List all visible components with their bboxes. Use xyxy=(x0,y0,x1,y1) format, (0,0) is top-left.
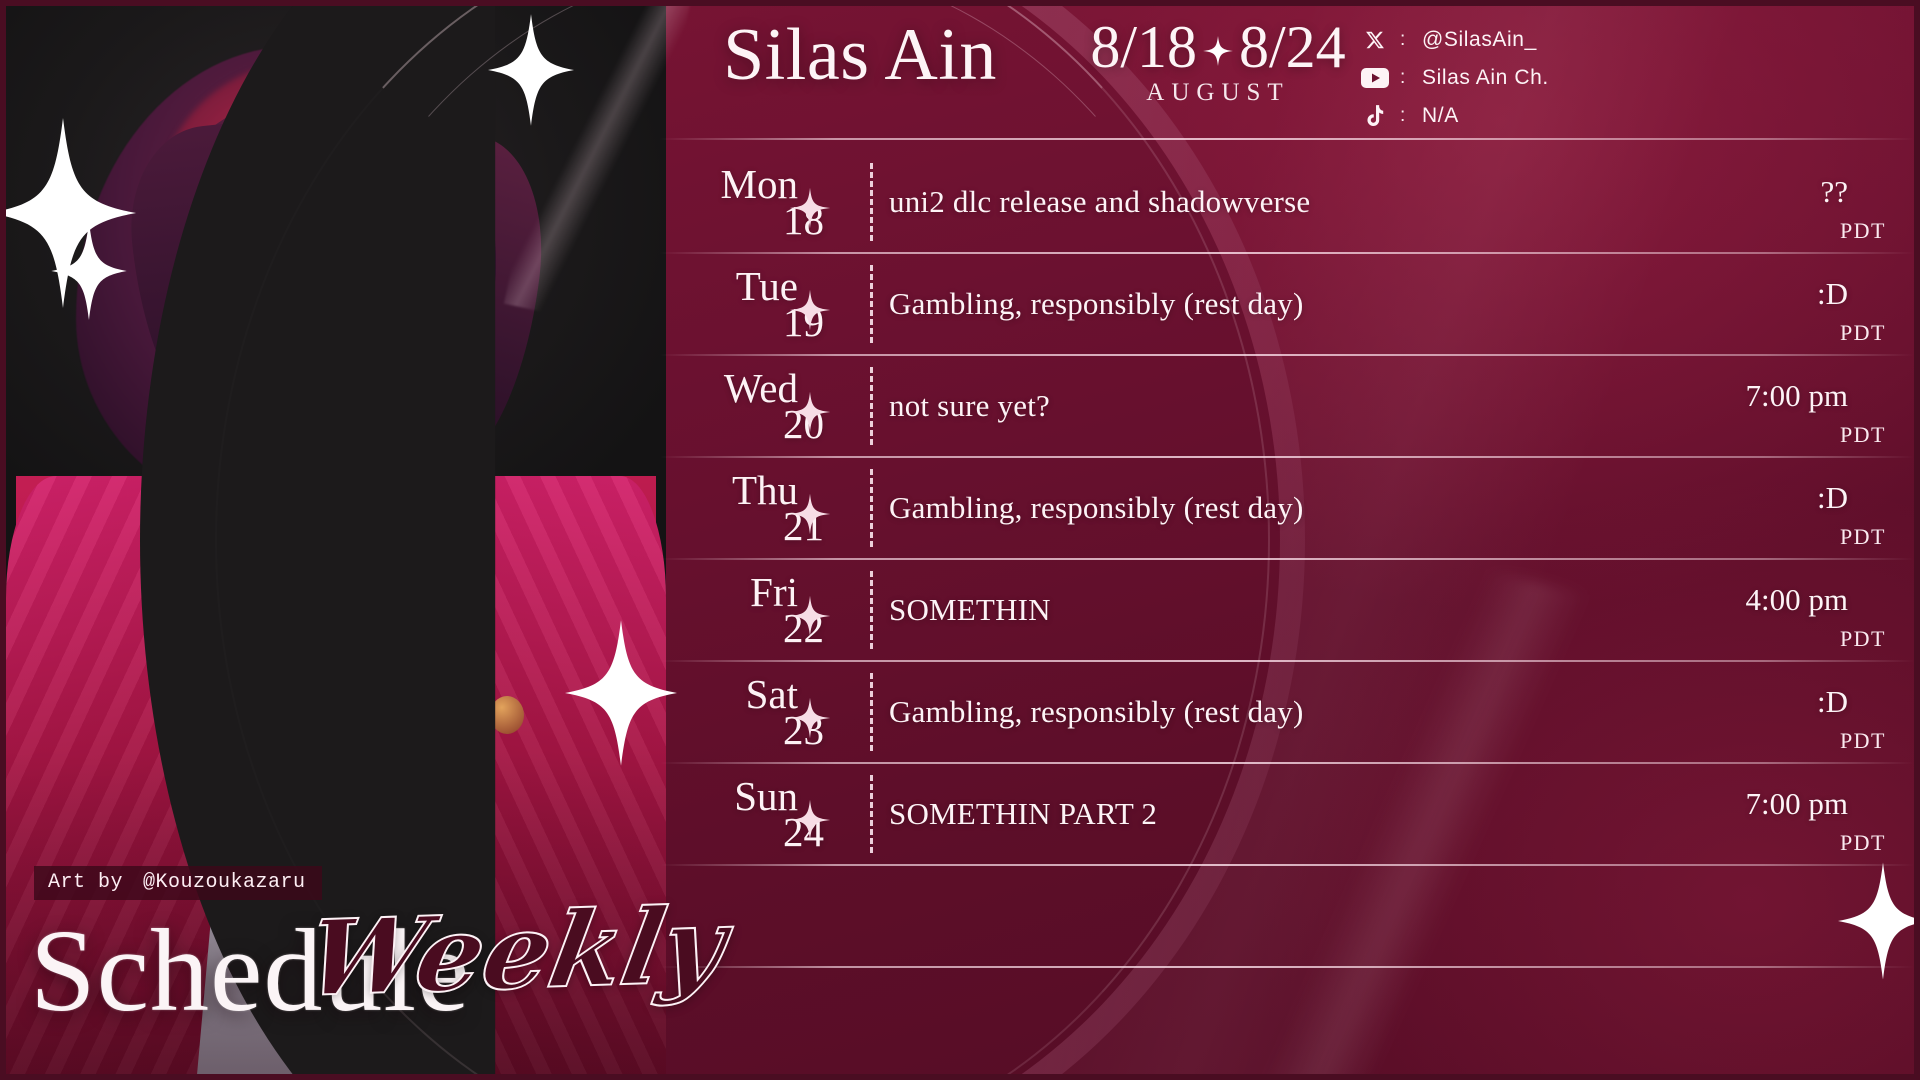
stream-time: :D xyxy=(1817,684,1848,720)
stream-title: uni2 dlc release and shadowverse xyxy=(889,184,1624,220)
date-start: 8/18 xyxy=(1090,16,1197,79)
day-cell: Sun 24 xyxy=(660,764,870,864)
stream-title: not sure yet? xyxy=(889,388,1624,424)
timezone-label: PDT xyxy=(1840,218,1886,244)
table-row[interactable]: Mon 18 uni2 dlc release and shadowverse … xyxy=(660,152,1914,252)
timezone-label: PDT xyxy=(1840,422,1886,448)
table-row[interactable]: Sun 24 SOMETHIN PART 2 7:00 pm PDT xyxy=(660,764,1914,864)
stream-title: Gambling, responsibly (rest day) xyxy=(889,286,1624,322)
row-dashed-divider xyxy=(870,265,873,343)
x-twitter-icon xyxy=(1360,29,1390,51)
weekly-wordmark: Weekly xyxy=(299,893,733,1011)
timezone-label: PDT xyxy=(1840,524,1886,550)
time-cell: 4:00 pm PDT xyxy=(1624,560,1914,660)
sparkle-icon xyxy=(788,390,832,434)
row-dashed-divider xyxy=(870,571,873,649)
timezone-label: PDT xyxy=(1840,728,1886,754)
table-row[interactable]: Thu 21 Gambling, responsibly (rest day) … xyxy=(660,458,1914,558)
row-dashed-divider xyxy=(870,367,873,445)
date-end: 8/24 xyxy=(1239,16,1346,79)
day-cell: Mon 18 xyxy=(660,152,870,252)
sparkle-icon xyxy=(788,186,832,230)
sparkle-icon xyxy=(788,696,832,740)
time-cell: 7:00 pm PDT xyxy=(1624,764,1914,864)
time-cell: 7:00 pm PDT xyxy=(1624,356,1914,456)
month-label: AUGUST xyxy=(1078,79,1358,107)
timezone-label: PDT xyxy=(1840,320,1886,346)
sparkle-icon xyxy=(1201,28,1235,68)
social-separator: : xyxy=(1400,67,1412,89)
row-dashed-divider xyxy=(870,469,873,547)
youtube-icon xyxy=(1360,68,1390,88)
sparkle-icon xyxy=(788,288,832,332)
social-separator: : xyxy=(1400,29,1412,51)
stream-time: :D xyxy=(1817,276,1848,312)
sparkle-icon xyxy=(788,798,832,842)
date-range: 8/18 8/24 xyxy=(1078,16,1358,79)
page-title: Silas Ain xyxy=(660,18,1060,92)
social-handle-tiktok: N/A xyxy=(1422,104,1459,128)
time-cell: :D PDT xyxy=(1624,254,1914,354)
sparkle-icon xyxy=(788,594,832,638)
social-handle-x: @SilasAin_ xyxy=(1422,28,1537,52)
social-separator: : xyxy=(1400,105,1412,127)
header: Silas Ain 8/18 8/24 AUGUST xyxy=(660,12,1914,134)
time-cell: :D PDT xyxy=(1624,662,1914,762)
social-row-x[interactable]: : @SilasAin_ xyxy=(1360,26,1900,54)
day-cell: Thu 21 xyxy=(660,458,870,558)
table-row[interactable]: Wed 20 not sure yet? 7:00 pm PDT xyxy=(660,356,1914,456)
time-cell: :D PDT xyxy=(1624,458,1914,558)
social-row-youtube[interactable]: : Silas Ain Ch. xyxy=(1360,64,1900,92)
social-links: : @SilasAin_ : Silas Ain Ch. xyxy=(1360,26,1900,130)
table-row[interactable]: Sat 23 Gambling, responsibly (rest day) … xyxy=(660,662,1914,762)
stream-title: SOMETHIN xyxy=(889,592,1624,628)
artist-credit: Art by @Kouzoukazaru xyxy=(34,866,322,900)
art-by-label: Art by xyxy=(48,871,123,894)
row-dashed-divider xyxy=(870,775,873,853)
stream-title: SOMETHIN PART 2 xyxy=(889,796,1624,832)
stream-time: 4:00 pm xyxy=(1746,582,1848,618)
day-cell: Fri 22 xyxy=(660,560,870,660)
schedule-table: Mon 18 uni2 dlc release and shadowverse … xyxy=(660,138,1914,1068)
artist-handle[interactable]: @Kouzoukazaru xyxy=(143,871,306,894)
stream-title: Gambling, responsibly (rest day) xyxy=(889,694,1624,730)
tiktok-icon xyxy=(1360,105,1390,128)
timezone-label: PDT xyxy=(1840,626,1886,652)
row-dashed-divider xyxy=(870,163,873,241)
day-cell: Sat 23 xyxy=(660,662,870,762)
social-handle-youtube: Silas Ain Ch. xyxy=(1422,66,1549,90)
row-divider xyxy=(660,864,1914,866)
row-divider xyxy=(660,138,1914,140)
row-divider xyxy=(660,966,1914,968)
stream-time: :D xyxy=(1817,480,1848,516)
stream-time: 7:00 pm xyxy=(1746,378,1848,414)
stream-title: Gambling, responsibly (rest day) xyxy=(889,490,1624,526)
stream-time: 7:00 pm xyxy=(1746,786,1848,822)
date-block: 8/18 8/24 AUGUST xyxy=(1078,16,1358,107)
time-cell: ?? PDT xyxy=(1624,152,1914,252)
day-cell: Wed 20 xyxy=(660,356,870,456)
day-cell: Tue 19 xyxy=(660,254,870,354)
row-dashed-divider xyxy=(870,673,873,751)
table-row[interactable]: Tue 19 Gambling, responsibly (rest day) … xyxy=(660,254,1914,354)
schedule-graphic: Silas Ain 8/18 8/24 AUGUST xyxy=(0,0,1920,1080)
sparkle-icon xyxy=(788,492,832,536)
table-row[interactable]: Fri 22 SOMETHIN 4:00 pm PDT xyxy=(660,560,1914,660)
stream-time: ?? xyxy=(1820,174,1848,210)
social-row-tiktok[interactable]: : N/A xyxy=(1360,102,1900,130)
timezone-label: PDT xyxy=(1840,830,1886,856)
